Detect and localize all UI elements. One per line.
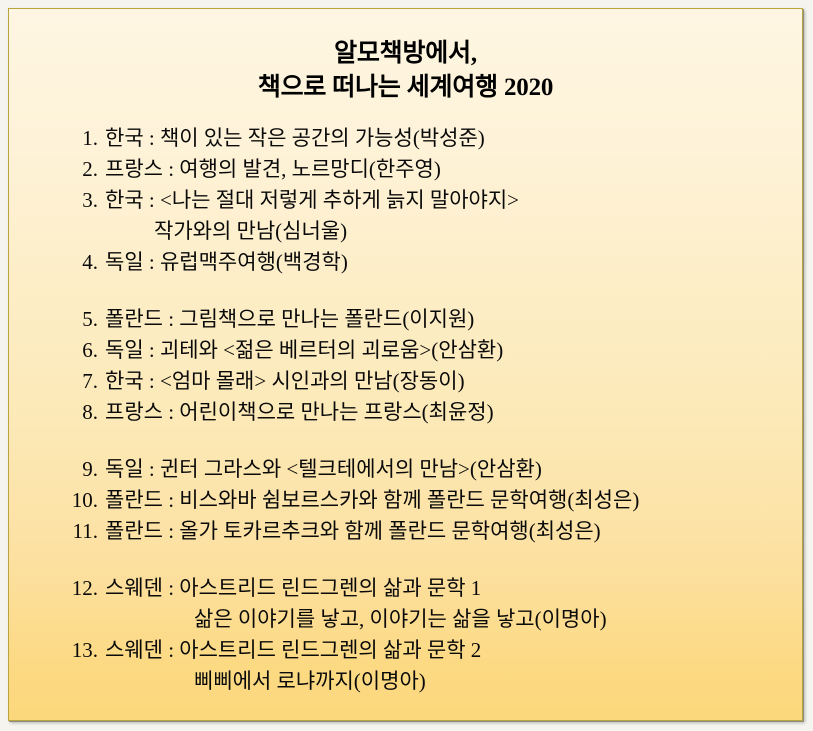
program-entry: 2.프랑스 : 여행의 발견, 노르망디(한주영) — [61, 154, 802, 185]
program-entry: 3.한국 : <나는 절대 저렇게 추하게 늙지 말아야지> — [61, 185, 802, 216]
program-group-items: 9.독일 : 귄터 그라스와 <텔크테에서의 만남>(안삼환)10.폴란드 : … — [61, 454, 802, 547]
program-entry: 4.독일 : 유럽맥주여행(백경학) — [61, 247, 802, 278]
program-entry-number: 2. — [61, 154, 105, 185]
program-entry: 5.폴란드 : 그림책으로 만나는 폴란드(이지원) — [61, 304, 802, 335]
program-list: 1.한국 : 책이 있는 작은 공간의 가능성(박성준)2.프랑스 : 여행의 … — [9, 105, 802, 697]
program-entry: 12.스웨덴 : 아스트리드 린드그렌의 삶과 문학 1 — [61, 573, 802, 604]
program-group: 1.한국 : 책이 있는 작은 공간의 가능성(박성준)2.프랑스 : 여행의 … — [9, 105, 802, 278]
program-entry-number: 5. — [61, 304, 105, 335]
program-entry-number: 3. — [61, 185, 105, 216]
program-entry-number: 12. — [61, 573, 105, 604]
list-item: 1.한국 : 책이 있는 작은 공간의 가능성(박성준) — [61, 123, 802, 154]
program-entry-text: 폴란드 : 비스와바 쉼보르스카와 함께 폴란드 문학여행(최성은) — [105, 485, 639, 516]
program-entry: 8.프랑스 : 어린이책으로 만나는 프랑스(최윤정) — [61, 397, 802, 428]
program-entry-number: 7. — [61, 366, 105, 397]
program-group: 5.폴란드 : 그림책으로 만나는 폴란드(이지원)6.독일 : 괴테와 <젊은… — [9, 278, 802, 428]
program-entry: 11.폴란드 : 올가 토카르추크와 함께 폴란드 문학여행(최성은) — [61, 516, 802, 547]
program-entry-text: 독일 : 유럽맥주여행(백경학) — [105, 247, 348, 278]
list-item: 5.폴란드 : 그림책으로 만나는 폴란드(이지원) — [61, 304, 802, 335]
program-entry-continuation: 삐삐에서 로냐까지(이명아) — [61, 666, 802, 697]
program-entry-text: 한국 : <나는 절대 저렇게 추하게 늙지 말아야지> — [105, 185, 519, 216]
program-entry-number: 11. — [61, 516, 105, 547]
program-entry-text: 독일 : 괴테와 <젊은 베르터의 괴로움>(안삼환) — [105, 335, 503, 366]
list-item: 9.독일 : 귄터 그라스와 <텔크테에서의 만남>(안삼환) — [61, 454, 802, 485]
list-item: 7.한국 : <엄마 몰래> 시인과의 만남(장동이) — [61, 366, 802, 397]
program-entry-number: 13. — [61, 635, 105, 666]
program-entry-text: 프랑스 : 어린이책으로 만나는 프랑스(최윤정) — [105, 397, 494, 428]
program-entry-text: 독일 : 귄터 그라스와 <텔크테에서의 만남>(안삼환) — [105, 454, 542, 485]
program-entry: 9.독일 : 귄터 그라스와 <텔크테에서의 만남>(안삼환) — [61, 454, 802, 485]
program-entry-text: 폴란드 : 그림책으로 만나는 폴란드(이지원) — [105, 304, 474, 335]
program-entry-continuation: 삶은 이야기를 낳고, 이야기는 삶을 낳고(이명아) — [61, 604, 802, 635]
list-item: 10.폴란드 : 비스와바 쉼보르스카와 함께 폴란드 문학여행(최성은) — [61, 485, 802, 516]
list-item: 2.프랑스 : 여행의 발견, 노르망디(한주영) — [61, 154, 802, 185]
program-group: 9.독일 : 귄터 그라스와 <텔크테에서의 만남>(안삼환)10.폴란드 : … — [9, 428, 802, 547]
program-entry-text: 프랑스 : 여행의 발견, 노르망디(한주영) — [105, 154, 441, 185]
list-item: 8.프랑스 : 어린이책으로 만나는 프랑스(최윤정) — [61, 397, 802, 428]
program-entry-number: 1. — [61, 123, 105, 154]
program-entry-continuation: 작가와의 만남(심너울) — [61, 216, 802, 247]
list-item: 3.한국 : <나는 절대 저렇게 추하게 늙지 말아야지>작가와의 만남(심너… — [61, 185, 802, 247]
list-item: 11.폴란드 : 올가 토카르추크와 함께 폴란드 문학여행(최성은) — [61, 516, 802, 547]
program-entry-text: 스웨덴 : 아스트리드 린드그렌의 삶과 문학 1 — [105, 573, 481, 604]
program-group-items: 12.스웨덴 : 아스트리드 린드그렌의 삶과 문학 1삶은 이야기를 낳고, … — [61, 573, 802, 697]
program-entry: 1.한국 : 책이 있는 작은 공간의 가능성(박성준) — [61, 123, 802, 154]
title-line-1: 알모책방에서, — [9, 37, 802, 71]
poster: 알모책방에서, 책으로 떠나는 세계여행 2020 1.한국 : 책이 있는 작… — [0, 0, 813, 731]
program-group-items: 5.폴란드 : 그림책으로 만나는 폴란드(이지원)6.독일 : 괴테와 <젊은… — [61, 304, 802, 428]
program-entry-text: 스웨덴 : 아스트리드 린드그렌의 삶과 문학 2 — [105, 635, 481, 666]
program-entry: 6.독일 : 괴테와 <젊은 베르터의 괴로움>(안삼환) — [61, 335, 802, 366]
program-entry-number: 6. — [61, 335, 105, 366]
program-entry-number: 10. — [61, 485, 105, 516]
program-entry-number: 9. — [61, 454, 105, 485]
program-entry-number: 8. — [61, 397, 105, 428]
program-entry: 7.한국 : <엄마 몰래> 시인과의 만남(장동이) — [61, 366, 802, 397]
list-item: 6.독일 : 괴테와 <젊은 베르터의 괴로움>(안삼환) — [61, 335, 802, 366]
poster-canvas: 알모책방에서, 책으로 떠나는 세계여행 2020 1.한국 : 책이 있는 작… — [8, 8, 803, 721]
list-item: 12.스웨덴 : 아스트리드 린드그렌의 삶과 문학 1삶은 이야기를 낳고, … — [61, 573, 802, 635]
program-entry: 13.스웨덴 : 아스트리드 린드그렌의 삶과 문학 2 — [61, 635, 802, 666]
program-entry-text: 한국 : <엄마 몰래> 시인과의 만남(장동이) — [105, 366, 465, 397]
program-entry-number: 4. — [61, 247, 105, 278]
program-group: 12.스웨덴 : 아스트리드 린드그렌의 삶과 문학 1삶은 이야기를 낳고, … — [9, 547, 802, 697]
program-group-items: 1.한국 : 책이 있는 작은 공간의 가능성(박성준)2.프랑스 : 여행의 … — [61, 123, 802, 278]
list-item: 13.스웨덴 : 아스트리드 린드그렌의 삶과 문학 2삐삐에서 로냐까지(이명… — [61, 635, 802, 697]
program-entry-text: 폴란드 : 올가 토카르추크와 함께 폴란드 문학여행(최성은) — [105, 516, 601, 547]
program-entry-text: 한국 : 책이 있는 작은 공간의 가능성(박성준) — [105, 123, 485, 154]
program-entry: 10.폴란드 : 비스와바 쉼보르스카와 함께 폴란드 문학여행(최성은) — [61, 485, 802, 516]
title-line-2: 책으로 떠나는 세계여행 2020 — [9, 71, 802, 105]
page-title: 알모책방에서, 책으로 떠나는 세계여행 2020 — [9, 9, 802, 105]
list-item: 4.독일 : 유럽맥주여행(백경학) — [61, 247, 802, 278]
